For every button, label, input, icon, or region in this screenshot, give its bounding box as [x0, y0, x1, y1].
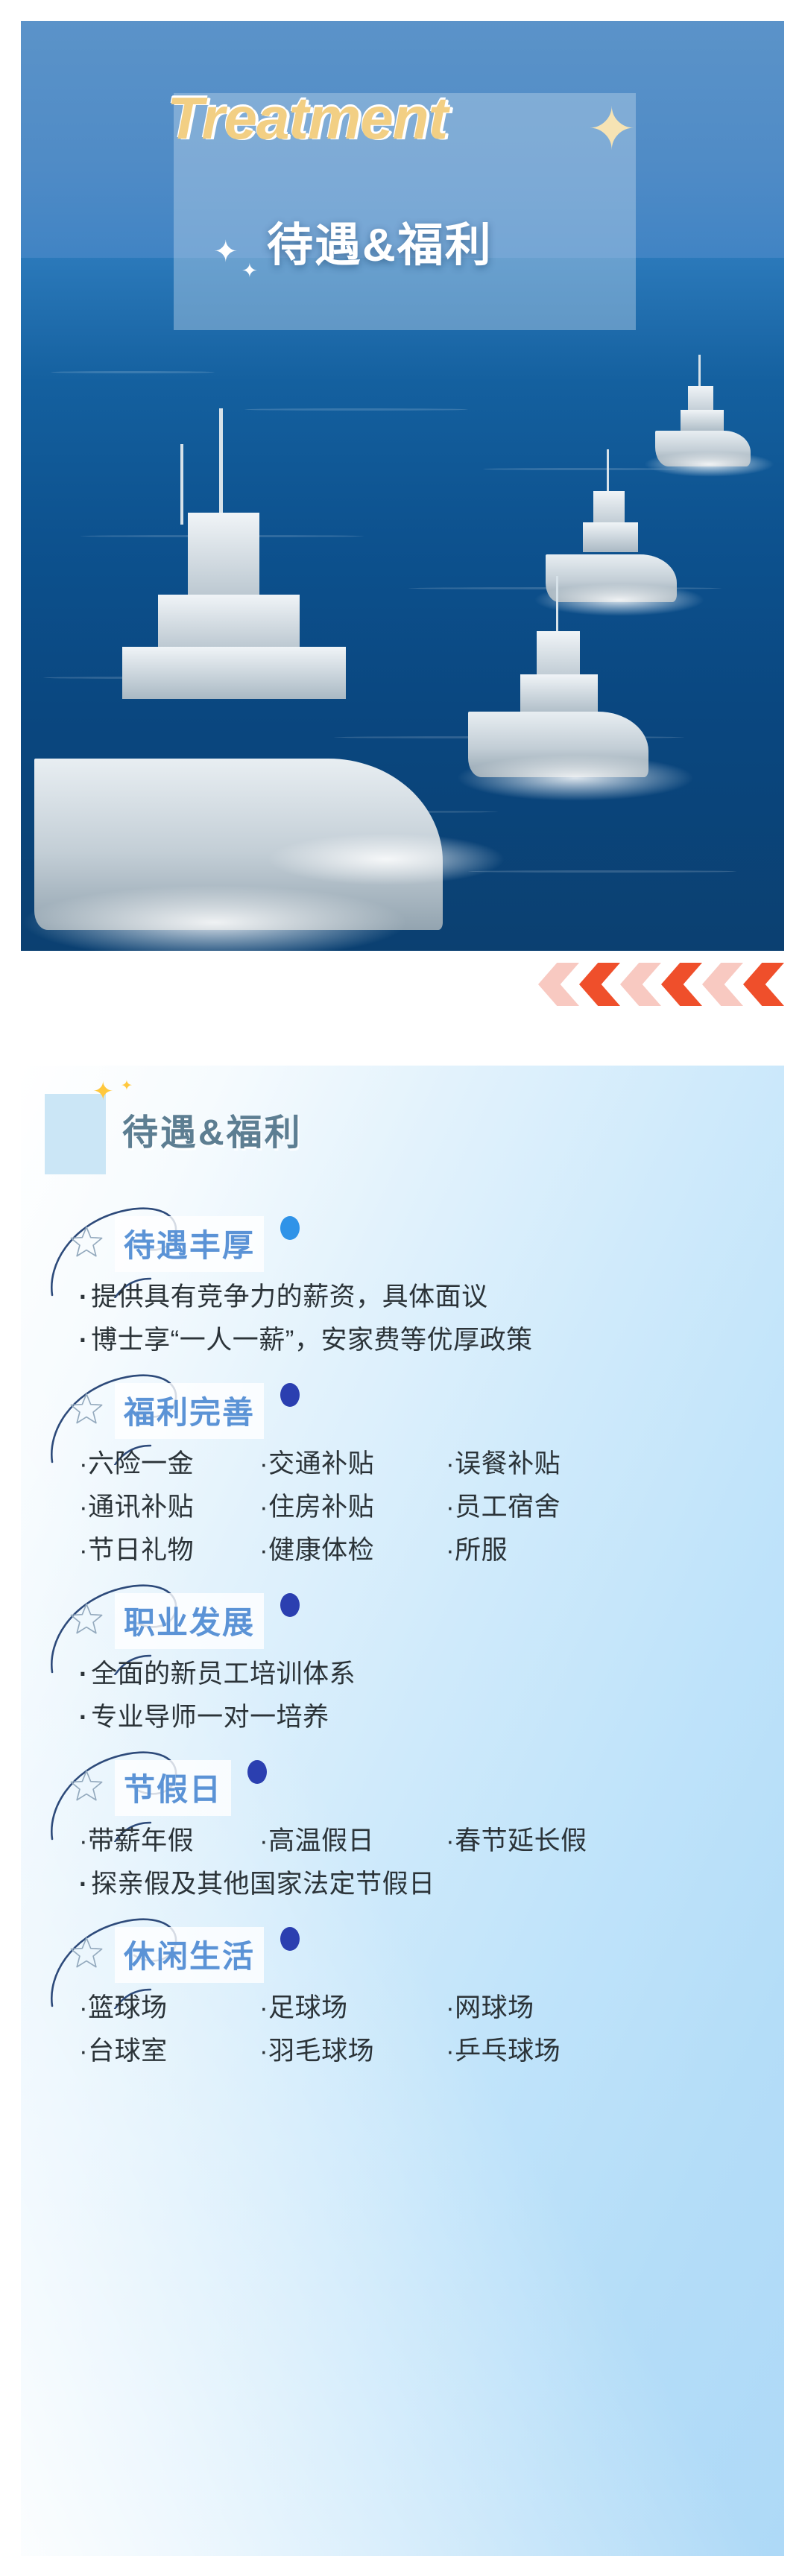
bullet-marker: · [259, 1826, 268, 1855]
benefit-group-label: 休闲生活 [115, 1927, 264, 1983]
content-card: ✦ ✦ 待遇&福利 待遇丰厚 ·提供具有竞争力的薪资，具体面议·博士享“一人一薪… [21, 1066, 784, 2556]
bullet-cell: ·乒乓球场 [446, 2030, 561, 2073]
bullet-line: ·博士享“一人一薪”，安家费等优厚政策 [79, 1319, 784, 1362]
benefit-group-label: 职业发展 [115, 1593, 264, 1649]
bullet-marker: · [79, 1703, 88, 1732]
header-accent-square [45, 1094, 106, 1174]
poster-page: Treatment ✦ ✦ ✦ 待遇&福利 ✦ ✦ 待遇&福利 [0, 0, 805, 2576]
chevron-left-icon [620, 963, 661, 1006]
bullet-cell: ·羽毛球场 [259, 2030, 446, 2073]
bullet-row: ·篮球场·足球场·网球场 [79, 1987, 784, 2030]
bullet-cell: ·台球室 [79, 2030, 259, 2073]
bullet-marker: · [446, 2037, 455, 2066]
bullet-cell: ·篮球场 [79, 1987, 259, 2030]
benefit-group-header[interactable]: 福利完善 [51, 1367, 784, 1440]
bullet-cell: ·带薪年假 [79, 1820, 259, 1863]
bullet-marker: · [446, 1536, 455, 1565]
bullet-marker: · [79, 1536, 88, 1565]
wave [468, 870, 736, 873]
bullet-row: ·通讯补贴·住房补贴·员工宿舍 [79, 1486, 784, 1529]
hero-title-cn: 待遇&福利 [267, 207, 493, 274]
benefit-group-body: ·篮球场·足球场·网球场·台球室·羽毛球场·乒乓球场 [79, 1987, 784, 2073]
chevron-left-icon [661, 963, 702, 1006]
bullet-cell: ·春节延长假 [446, 1820, 587, 1863]
bullet-marker: · [79, 1993, 88, 2022]
sparkle-icon: ✦ [92, 1079, 114, 1104]
bullet-marker: · [259, 1993, 268, 2022]
hero-title-en: Treatment [167, 84, 447, 153]
bullet-cell: ·误餐补贴 [446, 1443, 561, 1486]
bullet-row: ·台球室·羽毛球场·乒乓球场 [79, 2030, 784, 2073]
bullet-cell: ·住房补贴 [259, 1486, 446, 1529]
bullet-cell: ·交通补贴 [259, 1443, 446, 1486]
bullet-cell: ·所服 [446, 1529, 508, 1572]
benefit-group-header[interactable]: 职业发展 [51, 1577, 784, 1650]
benefit-group-2: 福利完善 ·六险一金·交通补贴·误餐补贴·通讯补贴·住房补贴·员工宿舍·节日礼物… [21, 1367, 784, 1577]
bullet-line: ·专业导师一对一培养 [79, 1696, 784, 1739]
bullet-marker: · [79, 1449, 88, 1478]
benefit-group-label: 待遇丰厚 [115, 1216, 264, 1272]
accent-dot [280, 1927, 300, 1951]
bullet-marker: · [446, 1993, 455, 2022]
star-icon [70, 1769, 103, 1802]
sparkle-small-icon: ✦ [121, 1079, 133, 1093]
accent-dot [280, 1593, 300, 1617]
bullet-cell: ·通讯补贴 [79, 1486, 259, 1529]
benefit-group-5: 休闲生活 ·篮球场·足球场·网球场·台球室·羽毛球场·乒乓球场 [21, 1911, 784, 2077]
bullet-marker: · [446, 1826, 455, 1855]
bullet-marker: · [79, 2037, 88, 2066]
benefit-group-body: ·带薪年假·高温假日·春节延长假·探亲假及其他国家法定节假日 [79, 1820, 784, 1906]
accent-dot [280, 1383, 300, 1407]
bullet-cell: ·足球场 [259, 1987, 446, 2030]
star-icon [70, 1602, 103, 1635]
chevron-left-icon [579, 963, 620, 1006]
chevron-left-icon [702, 963, 743, 1006]
bullet-cell: ·高温假日 [259, 1820, 446, 1863]
bullet-cell: ·员工宿舍 [446, 1486, 561, 1529]
benefit-group-header[interactable]: 待遇丰厚 [51, 1200, 784, 1273]
benefit-group-body: ·全面的新员工培训体系·专业导师一对一培养 [79, 1653, 784, 1739]
benefit-group-header[interactable]: 休闲生活 [51, 1911, 784, 1984]
wave [51, 371, 215, 373]
benefit-group-1: 待遇丰厚 ·提供具有竞争力的薪资，具体面议·博士享“一人一薪”，安家费等优厚政策 [21, 1200, 784, 1367]
benefit-group-4: 节假日 ·带薪年假·高温假日·春节延长假·探亲假及其他国家法定节假日 [21, 1744, 784, 1911]
bullet-line: ·提供具有竞争力的薪资，具体面议 [79, 1276, 784, 1319]
wake [456, 755, 695, 801]
bullet-marker: · [79, 1326, 88, 1355]
wake [267, 833, 505, 885]
sparkle-small-icon: ✦ [213, 237, 239, 267]
bullet-marker: · [446, 1493, 455, 1522]
bullet-line: ·全面的新员工培训体系 [79, 1653, 784, 1696]
section-title: 待遇&福利 [122, 1103, 303, 1155]
sparkle-tiny-icon: ✦ [241, 261, 258, 280]
star-icon [70, 1936, 103, 1969]
bullet-row: ·六险一金·交通补贴·误餐补贴 [79, 1443, 784, 1486]
benefit-group-header[interactable]: 节假日 [51, 1744, 784, 1817]
star-icon [70, 1225, 103, 1258]
benefit-group-3: 职业发展 ·全面的新员工培训体系·专业导师一对一培养 [21, 1577, 784, 1744]
bullet-row: ·节日礼物·健康体检·所服 [79, 1529, 784, 1572]
section-header: ✦ ✦ 待遇&福利 [21, 1066, 784, 1200]
bullet-cell: ·节日礼物 [79, 1529, 259, 1572]
bullet-marker: · [259, 1536, 268, 1565]
benefit-group-label: 节假日 [115, 1760, 231, 1816]
bullet-cell: ·网球场 [446, 1987, 534, 2030]
chevron-left-icon [538, 963, 579, 1006]
bullet-marker: · [446, 1449, 455, 1478]
star-icon [70, 1392, 103, 1425]
bullet-marker: · [259, 2037, 268, 2066]
benefit-groups: 待遇丰厚 ·提供具有竞争力的薪资，具体面议·博士享“一人一薪”，安家费等优厚政策… [21, 1200, 784, 2077]
bullet-row: ·带薪年假·高温假日·春节延长假 [79, 1820, 784, 1863]
warship-near [468, 576, 654, 777]
bullet-marker: · [79, 1659, 88, 1689]
bullet-cell: ·六险一金 [79, 1443, 259, 1486]
bullet-marker: · [259, 1493, 268, 1522]
bullet-cell: ·健康体检 [259, 1529, 446, 1572]
benefit-group-label: 福利完善 [115, 1383, 264, 1439]
bullet-marker: · [259, 1449, 268, 1478]
bullet-marker: · [79, 1493, 88, 1522]
sparkle-icon: ✦ [587, 100, 636, 158]
accent-dot [247, 1760, 267, 1784]
chevron-left-icon [743, 963, 784, 1006]
bullet-marker: · [79, 1870, 88, 1899]
hero-image: Treatment ✦ ✦ ✦ 待遇&福利 [21, 21, 784, 951]
benefit-group-body: ·提供具有竞争力的薪资，具体面议·博士享“一人一薪”，安家费等优厚政策 [79, 1276, 784, 1362]
bullet-line: ·探亲假及其他国家法定节假日 [79, 1863, 784, 1906]
benefit-group-body: ·六险一金·交通补贴·误餐补贴·通讯补贴·住房补贴·员工宿舍·节日礼物·健康体检… [79, 1443, 784, 1572]
bullet-marker: · [79, 1826, 88, 1855]
bullet-marker: · [79, 1282, 88, 1311]
accent-dot [280, 1216, 300, 1240]
chevron-divider [538, 963, 784, 1006]
